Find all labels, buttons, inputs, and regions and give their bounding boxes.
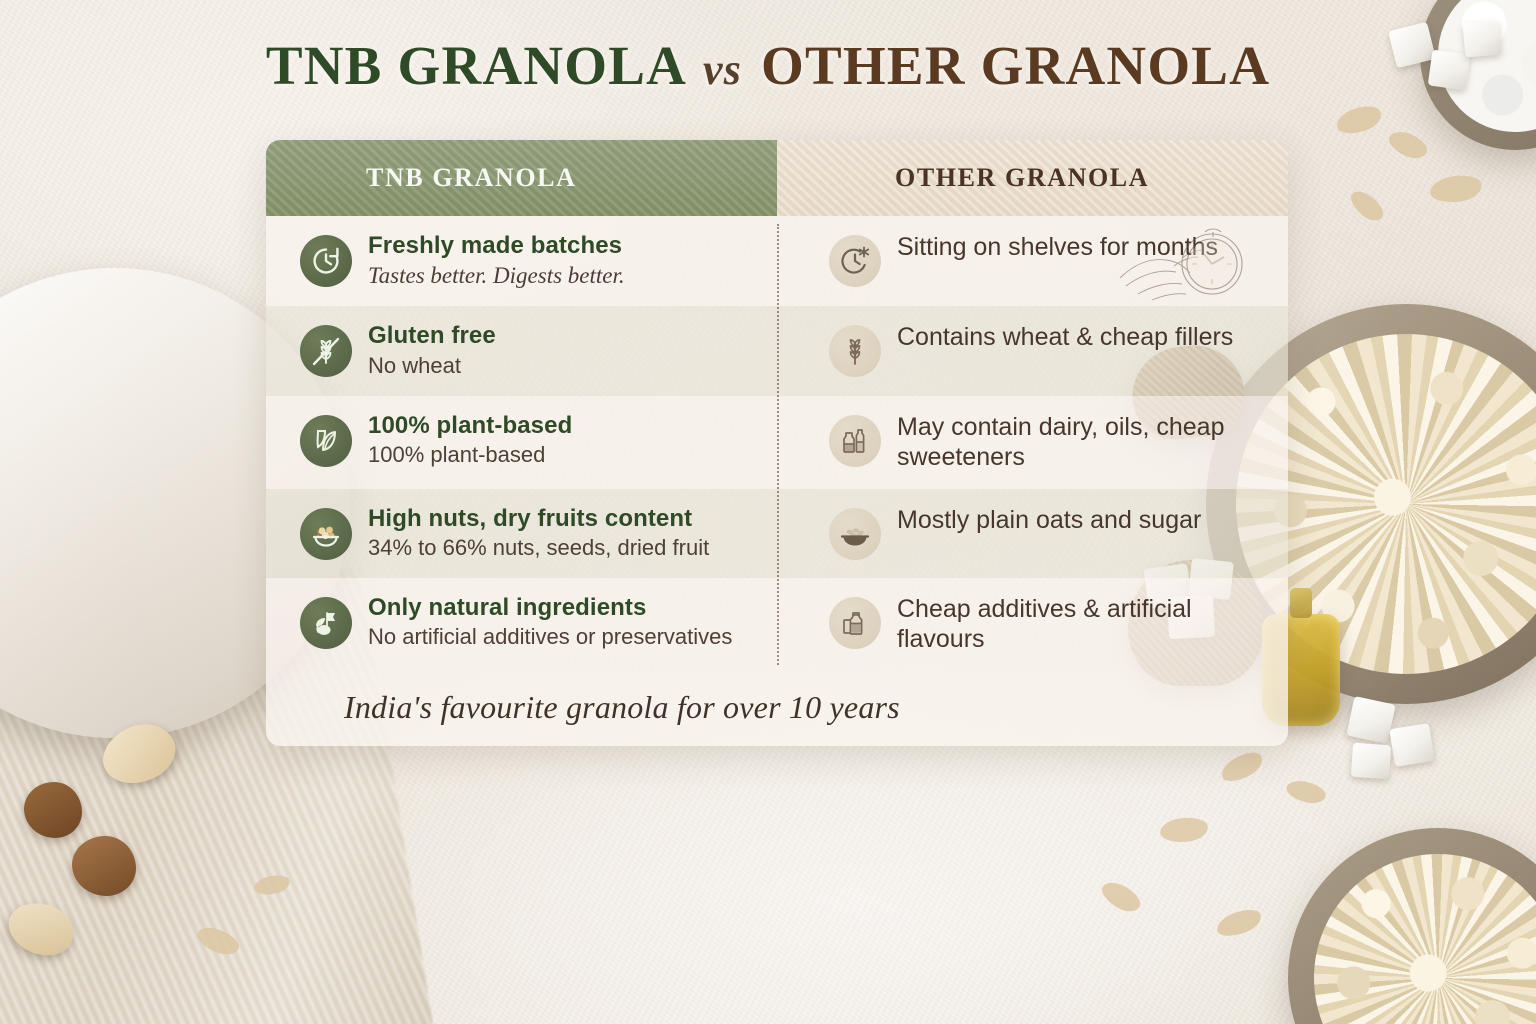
row-4-tnb-title: High nuts, dry fruits content bbox=[368, 505, 709, 533]
row-5-other-text: Cheap additives & artificial flavours bbox=[897, 594, 1262, 655]
clock-refresh-icon bbox=[300, 235, 352, 287]
row-4-tnb-subtitle: 34% to 66% nuts, seeds, dried fruit bbox=[368, 535, 709, 562]
row-3-other-cell: May contain dairy, oils, cheap sweetener… bbox=[777, 396, 1288, 489]
column-header-other-label: OTHER GRANOLA bbox=[895, 163, 1149, 193]
clock-dusty-icon bbox=[829, 235, 881, 287]
row-2-tnb-subtitle: No wheat bbox=[368, 353, 496, 380]
sugar-cube bbox=[1351, 743, 1391, 780]
column-header-tnb-label: TNB GRANOLA bbox=[366, 163, 576, 193]
row-3-tnb-cell: 100% plant-based 100% plant-based bbox=[266, 396, 777, 489]
hazelnut-prop bbox=[24, 782, 82, 838]
hazelnut-prop bbox=[72, 836, 136, 896]
row-3-other-text: May contain dairy, oils, cheap sweetener… bbox=[897, 412, 1262, 473]
wheat-crossed-out-icon bbox=[300, 325, 352, 377]
row-5-other-cell: Cheap additives & artificial flavours bbox=[777, 578, 1288, 671]
row-5-tnb-subtitle: No artificial additives or preservatives bbox=[368, 624, 732, 651]
title-brand: TNB GRANOLA bbox=[266, 35, 684, 96]
row-5-tnb-cell: Only natural ingredients No artificial a… bbox=[266, 578, 777, 671]
leaf-shield-icon bbox=[300, 415, 352, 467]
table-header-row: TNB GRANOLA OTHER GRANOLA bbox=[266, 140, 1288, 216]
row-3-tnb-subtitle: 100% plant-based bbox=[368, 442, 572, 469]
row-5-other-label: Cheap additives & artificial flavours bbox=[897, 594, 1262, 655]
row-2-tnb-title: Gluten free bbox=[368, 322, 496, 350]
row-1-other-cell: Sitting on shelves for months bbox=[777, 216, 1288, 306]
milk-bottles-icon bbox=[829, 415, 881, 467]
row-4-tnb-cell: High nuts, dry fruits content 34% to 66%… bbox=[266, 489, 777, 578]
row-4-other-text: Mostly plain oats and sugar bbox=[897, 505, 1201, 536]
column-header-other: OTHER GRANOLA bbox=[777, 140, 1288, 216]
additive-bottle-icon bbox=[829, 597, 881, 649]
row-1-tnb-text: Freshly made batches Tastes better. Dige… bbox=[368, 232, 625, 290]
row-4-tnb-text: High nuts, dry fruits content 34% to 66%… bbox=[368, 505, 709, 562]
row-2-other-label: Contains wheat & cheap fillers bbox=[897, 322, 1233, 353]
sugar-cube bbox=[1389, 723, 1434, 767]
plain-oat-bowl-icon bbox=[829, 508, 881, 560]
sugar-cube bbox=[1346, 696, 1395, 744]
title-vs: vs bbox=[699, 45, 746, 94]
row-2-other-cell: Contains wheat & cheap fillers bbox=[777, 306, 1288, 395]
wheat-stalk-icon bbox=[829, 325, 881, 377]
page-title: TNB GRANOLA vs OTHER GRANOLA bbox=[0, 34, 1536, 97]
row-4-other-label: Mostly plain oats and sugar bbox=[897, 505, 1201, 536]
title-competitor: OTHER GRANOLA bbox=[761, 35, 1270, 96]
row-1-tnb-title: Freshly made batches bbox=[368, 232, 625, 260]
row-4-other-cell: Mostly plain oats and sugar bbox=[777, 489, 1288, 578]
row-5-tnb-text: Only natural ingredients No artificial a… bbox=[368, 594, 732, 651]
natural-leaf-label-icon bbox=[300, 597, 352, 649]
row-1-other-label: Sitting on shelves for months bbox=[897, 232, 1218, 263]
table-footer: India's favourite granola for over 10 ye… bbox=[266, 671, 1288, 746]
row-5-tnb-title: Only natural ingredients bbox=[368, 594, 732, 622]
row-3-tnb-title: 100% plant-based bbox=[368, 412, 572, 440]
row-1-tnb-cell: Freshly made batches Tastes better. Dige… bbox=[266, 216, 777, 306]
column-header-tnb: TNB GRANOLA bbox=[266, 140, 777, 216]
row-2-tnb-cell: Gluten free No wheat bbox=[266, 306, 777, 395]
row-2-tnb-text: Gluten free No wheat bbox=[368, 322, 496, 379]
row-3-tnb-text: 100% plant-based 100% plant-based bbox=[368, 412, 572, 469]
table-body: Freshly made batches Tastes better. Dige… bbox=[266, 216, 1288, 671]
comparison-table: TNB GRANOLA OTHER GRANOLA bbox=[266, 140, 1288, 746]
row-3-other-label: May contain dairy, oils, cheap sweetener… bbox=[897, 412, 1262, 473]
column-divider bbox=[777, 224, 779, 665]
row-2-other-text: Contains wheat & cheap fillers bbox=[897, 322, 1233, 353]
footer-tagline: India's favourite granola for over 10 ye… bbox=[344, 689, 900, 725]
nut-bowl-icon bbox=[300, 508, 352, 560]
infographic-canvas: TNB GRANOLA vs OTHER GRANOLA TNB GRANOLA… bbox=[0, 0, 1536, 1024]
row-1-tnb-subtitle: Tastes better. Digests better. bbox=[368, 262, 625, 290]
row-1-other-text: Sitting on shelves for months bbox=[897, 232, 1218, 263]
